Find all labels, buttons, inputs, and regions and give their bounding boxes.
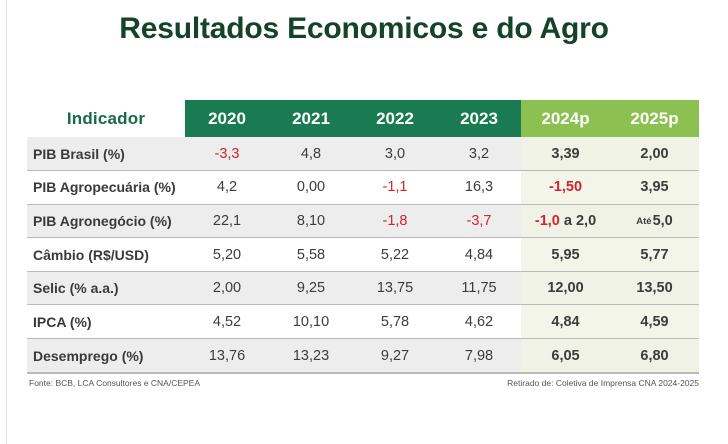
cell-cambio-2022: 5,22 [353,238,437,272]
cell-pib-agropecuaria-2024p: -1,50 [521,171,610,205]
economic-results-table-container: Indicador 2020 2021 2022 2023 2024p 2025… [27,100,699,392]
cell-ipca-2023: 4,62 [437,305,521,339]
cell-desemprego-2024p: 6,05 [521,339,610,373]
table-row: IPCA (%) 4,52 10,10 5,78 4,62 4,84 4,59 [27,305,699,339]
cell-pib-agropecuaria-2021: 0,00 [269,171,353,205]
cell-pib-brasil-2022: 3,0 [353,137,437,171]
cell-value-negative-part: -1,0 [535,213,560,229]
cell-cambio-2025p: 5,77 [610,238,699,272]
footer-source-text: Fonte: BCB, LCA Consultores e CNA/CEPEA [29,378,200,388]
cell-selic-2020: 2,00 [185,271,269,305]
cell-pib-brasil-2020: -3,3 [185,137,269,171]
table-header: Indicador 2020 2021 2022 2023 2024p 2025… [27,100,699,137]
row-label-pib-agronegocio: PIB Agronegócio (%) [27,204,185,238]
row-label-ipca: IPCA (%) [27,305,185,339]
cell-pib-agropecuaria-2023: 16,3 [437,171,521,205]
cell-pib-agropecuaria-2020: 4,2 [185,171,269,205]
header-cell-2022: 2022 [353,100,437,137]
header-cell-2025p: 2025p [610,100,699,137]
header-cell-2020: 2020 [185,100,269,137]
cell-desemprego-2022: 9,27 [353,339,437,373]
cell-selic-2022: 13,75 [353,271,437,305]
cell-selic-2025p: 13,50 [610,271,699,305]
table-row: PIB Agronegócio (%) 22,1 8,10 -1,8 -3,7 … [27,204,699,238]
cell-cambio-2020: 5,20 [185,238,269,272]
slide-left-edge-line [6,0,7,444]
slide-canvas: Resultados Economicos e do Agro Indicado… [0,0,728,444]
cell-pib-agropecuaria-2022: -1,1 [353,171,437,205]
cell-cambio-2023: 4,84 [437,238,521,272]
table-row: Câmbio (R$/USD) 5,20 5,58 5,22 4,84 5,95… [27,238,699,272]
cell-pib-agronegocio-2025p: Até5,0 [610,204,699,238]
economic-results-table: Indicador 2020 2021 2022 2023 2024p 2025… [27,100,699,372]
cell-value-prefix-ate: Até [636,216,651,227]
cell-desemprego-2021: 13,23 [269,339,353,373]
cell-pib-agronegocio-2022: -1,8 [353,204,437,238]
cell-pib-agronegocio-2020: 22,1 [185,204,269,238]
cell-value-range-part: a 2,0 [560,213,596,229]
cell-selic-2023: 11,75 [437,271,521,305]
row-label-selic: Selic (% a.a.) [27,271,185,305]
table-row: PIB Brasil (%) -3,3 4,8 3,0 3,2 3,39 2,0… [27,137,699,171]
cell-pib-brasil-2024p: 3,39 [521,137,610,171]
table-footer: Fonte: BCB, LCA Consultores e CNA/CEPEA … [27,378,699,392]
table-row: Selic (% a.a.) 2,00 9,25 13,75 11,75 12,… [27,271,699,305]
cell-pib-brasil-2021: 4,8 [269,137,353,171]
header-cell-2024p: 2024p [521,100,610,137]
cell-selic-2024p: 12,00 [521,271,610,305]
cell-ipca-2020: 4,52 [185,305,269,339]
row-label-pib-agropecuaria: PIB Agropecuária (%) [27,171,185,205]
cell-pib-brasil-2025p: 2,00 [610,137,699,171]
table-body: PIB Brasil (%) -3,3 4,8 3,0 3,2 3,39 2,0… [27,137,699,372]
cell-ipca-2024p: 4,84 [521,305,610,339]
header-cell-2021: 2021 [269,100,353,137]
table-row: Desemprego (%) 13,76 13,23 9,27 7,98 6,0… [27,339,699,373]
cell-cambio-2021: 5,58 [269,238,353,272]
cell-value-number: 5,0 [653,213,673,229]
cell-pib-agronegocio-2021: 8,10 [269,204,353,238]
cell-cambio-2024p: 5,95 [521,238,610,272]
cell-ipca-2021: 10,10 [269,305,353,339]
cell-selic-2021: 9,25 [269,271,353,305]
cell-pib-agronegocio-2023: -3,7 [437,204,521,238]
row-label-pib-brasil: PIB Brasil (%) [27,137,185,171]
cell-desemprego-2025p: 6,80 [610,339,699,373]
table-bottom-divider [27,372,699,374]
cell-ipca-2025p: 4,59 [610,305,699,339]
header-cell-indicador: Indicador [27,100,185,137]
page-title: Resultados Economicos e do Agro [0,12,728,46]
cell-desemprego-2023: 7,98 [437,339,521,373]
table-row: PIB Agropecuária (%) 4,2 0,00 -1,1 16,3 … [27,171,699,205]
cell-pib-brasil-2023: 3,2 [437,137,521,171]
cell-pib-agronegocio-2024p: -1,0 a 2,0 [521,204,610,238]
row-label-cambio: Câmbio (R$/USD) [27,238,185,272]
cell-ipca-2022: 5,78 [353,305,437,339]
table-header-row: Indicador 2020 2021 2022 2023 2024p 2025… [27,100,699,137]
cell-pib-agropecuaria-2025p: 3,95 [610,171,699,205]
row-label-desemprego: Desemprego (%) [27,339,185,373]
header-cell-2023: 2023 [437,100,521,137]
cell-desemprego-2020: 13,76 [185,339,269,373]
footer-credit-text: Retirado de: Coletiva de Imprensa CNA 20… [507,378,699,388]
